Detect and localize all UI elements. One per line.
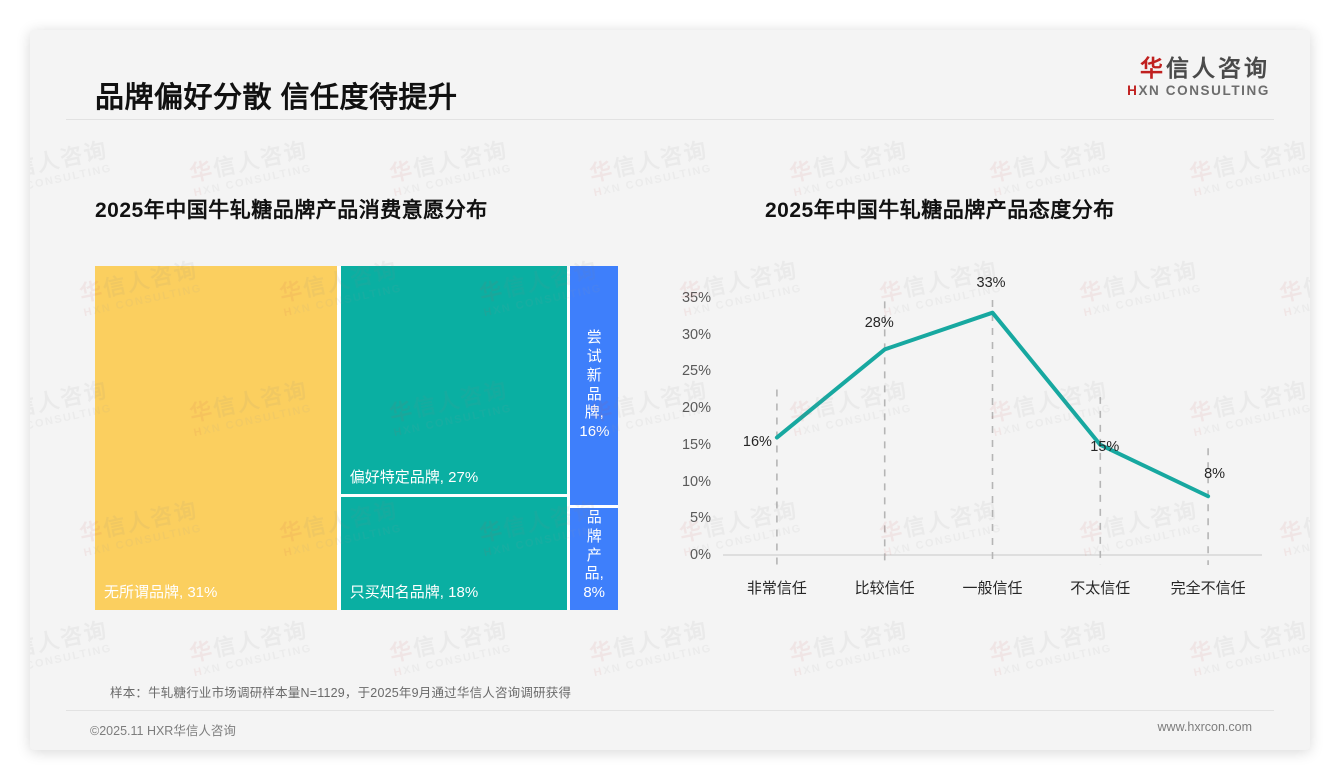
watermark-mark: 华信人咨询HXN CONSULTING	[1277, 498, 1310, 559]
watermark-mark: 华信人咨询HXN CONSULTING	[187, 618, 313, 679]
footnote: 样本：牛轧糖行业市场调研样本量N=1129，于2025年9月通过华信人咨询调研获…	[110, 682, 571, 701]
watermark-mark: 华信人咨询HXN CONSULTING	[387, 618, 513, 679]
logo-chinese-rest: 信人咨询	[1166, 55, 1270, 81]
watermark-mark: 华信人咨询HXN CONSULTING	[187, 138, 313, 199]
line-chart: 0%5%10%15%20%25%30%35%非常信任比较信任一般信任不太信任完全…	[655, 266, 1280, 621]
logo-english: HXN CONSULTING	[1127, 83, 1270, 98]
slide-card: 华信人咨询HXN CONSULTING华信人咨询HXN CONSULTING华信…	[30, 30, 1310, 750]
treemap-cell-label: 偏好特定品牌, 27%	[350, 469, 558, 488]
footer-divider	[66, 710, 1274, 711]
slide-header: 品牌偏好分散 信任度待提升 华信人咨询 HXN CONSULTING	[30, 30, 1310, 120]
footer-copyright: ©2025.11 HXR华信人咨询	[90, 720, 236, 739]
x-axis-category-label: 非常信任	[747, 577, 807, 598]
watermark-mark: 华信人咨询HXN CONSULTING	[987, 618, 1113, 679]
treemap-cell-label: 无所谓品牌, 31%	[104, 584, 328, 603]
header-divider	[66, 119, 1274, 120]
y-axis-tick-label: 0%	[655, 547, 711, 563]
y-axis-tick-label: 25%	[655, 363, 711, 379]
watermark-mark: 华信人咨询HXN CONSULTING	[787, 138, 913, 199]
x-axis-category-label: 一般信任	[962, 577, 1022, 598]
watermark-mark: 华信人咨询HXN CONSULTING	[987, 138, 1113, 199]
watermark-mark: 华信人咨询HXN CONSULTING	[1187, 138, 1310, 199]
y-axis-tick-label: 5%	[655, 510, 711, 526]
watermark-mark: 华信人咨询HXN CONSULTING	[787, 618, 913, 679]
watermark-mark: 华信人咨询HXN CONSULTING	[1277, 258, 1310, 319]
watermark-mark: 华信人咨询HXN CONSULTING	[587, 618, 713, 679]
treemap-chart: 无所谓品牌, 31%偏好特定品牌, 27%只买知名品牌, 18%尝试新品牌, 1…	[95, 266, 618, 610]
left-chart-title: 2025年中国牛轧糖品牌产品消费意愿分布	[95, 194, 488, 224]
treemap-cell[interactable]: 只买知名品牌, 18%	[341, 497, 567, 610]
right-chart-panel: 2025年中国牛轧糖品牌产品态度分布	[765, 194, 1115, 224]
watermark-mark: 华信人咨询HXN CONSULTING	[587, 138, 713, 199]
y-axis-tick-label: 10%	[655, 474, 711, 490]
x-axis-category-label: 完全不信任	[1171, 577, 1246, 598]
brand-logo: 华信人咨询 HXN CONSULTING	[1127, 55, 1270, 98]
watermark-mark: 华信人咨询HXN CONSULTING	[30, 618, 113, 679]
logo-english-highlight: H	[1127, 83, 1138, 98]
data-point-label: 16%	[743, 434, 772, 450]
watermark-mark: 华信人咨询HXN CONSULTING	[1187, 618, 1310, 679]
treemap-cell[interactable]: 拒绝品牌产品, 8%	[570, 508, 618, 610]
y-axis-tick-label: 30%	[655, 327, 711, 343]
treemap-cell-label: 拒绝品牌产品, 8%	[579, 508, 609, 603]
watermark-mark: 华信人咨询HXN CONSULTING	[30, 138, 113, 199]
data-point-label: 28%	[865, 315, 894, 331]
x-axis-category-label: 不太信任	[1070, 577, 1130, 598]
treemap-cell-label: 尝试新品牌, 16%	[579, 329, 609, 442]
data-point-label: 8%	[1204, 466, 1225, 482]
y-axis-tick-label: 20%	[655, 400, 711, 416]
x-axis-category-label: 比较信任	[855, 577, 915, 598]
treemap-cell[interactable]: 无所谓品牌, 31%	[95, 266, 337, 610]
watermark-mark: 华信人咨询HXN CONSULTING	[387, 138, 513, 199]
screenshot-stage: 华信人咨询HXN CONSULTING华信人咨询HXN CONSULTING华信…	[0, 0, 1340, 780]
logo-chinese: 华信人咨询	[1127, 55, 1270, 81]
page-title: 品牌偏好分散 信任度待提升	[95, 74, 458, 116]
left-chart-panel: 2025年中国牛轧糖品牌产品消费意愿分布	[95, 194, 488, 224]
logo-chinese-highlight: 华	[1140, 55, 1166, 81]
treemap-cell-label: 只买知名品牌, 18%	[350, 584, 558, 603]
data-point-label: 33%	[977, 275, 1006, 291]
footer-website: www.hxrcon.com	[1158, 720, 1252, 734]
logo-english-rest: XN CONSULTING	[1138, 83, 1270, 98]
y-axis-tick-label: 35%	[655, 290, 711, 306]
data-point-label: 15%	[1090, 439, 1119, 455]
treemap-cell[interactable]: 偏好特定品牌, 27%	[341, 266, 567, 494]
treemap-cell[interactable]: 尝试新品牌, 16%	[570, 266, 618, 505]
right-chart-title: 2025年中国牛轧糖品牌产品态度分布	[765, 194, 1115, 224]
y-axis-tick-label: 15%	[655, 437, 711, 453]
